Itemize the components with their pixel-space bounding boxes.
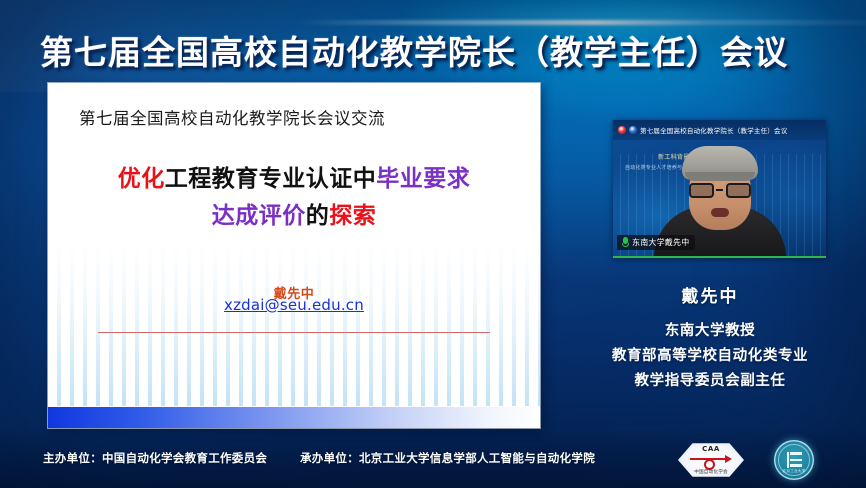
video-banner-text: 第七届全国高校自动化教学院长（教学主任）会议 [640,125,787,135]
glasses-right-lens [726,183,751,198]
slide-title-seg-exploration: 探索 [329,203,376,229]
seu-badge-icon [629,126,637,134]
slide-footer-bar [48,407,540,428]
microphone-icon [621,237,629,248]
slide-title-line-2: 达成评价的探索 [48,198,540,235]
speaker-glasses [689,182,751,198]
bjut-logo-subtext: 北京工业大学 [774,469,814,474]
speaker-info-panel: 戴先中 东南大学教授 教育部高等学校自动化类专业 教学指导委员会副主任 [560,282,860,394]
footer-logos: CAA 中国自动化学会 北京工业大学 [678,440,814,480]
slide-presenter-email[interactable]: xzdai@seu.edu.cn [48,296,540,314]
speaker-title-3: 教学指导委员会副主任 [560,369,860,394]
page-title: 第七届全国高校自动化教学院长（教学主任）会议 [40,26,788,74]
slide-main-title: 优化工程教育专业认证中毕业要求 达成评价的探索 [48,161,540,235]
slide-title-seg-attainment: 达成评价 [212,203,306,229]
slide-title-seg-graduation: 毕业要求 [376,166,470,192]
slide-title-seg-de: 的 [306,203,330,229]
footer-bar: 主办单位：中国自动化学会教育工作委员会 承办单位：北京工业大学信息学部人工智能与… [0,432,866,488]
slide-divider [98,332,490,333]
speaker-name: 戴先中 [560,282,860,307]
shared-slide[interactable]: 第七届全国高校自动化教学院长会议交流 优化工程教育专业认证中毕业要求 达成评价的… [48,83,540,428]
slide-stripe-decoration [48,246,540,406]
speaker-cap-brim [685,172,755,181]
speaker-mouth [711,208,729,217]
slide-title-seg-engineering: 工程教育专业认证中 [165,166,377,192]
slide-title-line-1: 优化工程教育专业认证中毕业要求 [48,161,540,198]
glasses-bridge [716,189,723,191]
bjut-logo: 北京工业大学 [774,440,814,480]
video-name-label: 东南大学戴先中 [617,235,695,250]
caa-logo-text: CAA [678,445,744,453]
caa-badge-icon [618,126,626,134]
caa-logo-subtext: 中国自动化学会 [678,469,744,475]
speaker-title-1: 东南大学教授 [560,319,860,344]
speaker-title-2: 教育部高等学校自动化类专业 [560,344,860,369]
slide-heading: 第七届全国高校自动化教学院长会议交流 [79,105,385,129]
bjut-logo-mark [787,452,802,468]
video-background-banner: 第七届全国高校自动化教学院长（教学主任）会议 [613,120,826,140]
footer-host: 主办单位：中国自动化学会教育工作委员会 [43,450,267,466]
caa-logo: CAA 中国自动化学会 [678,441,744,479]
footer-organizer: 承办单位：北京工业大学信息学部人工智能与自动化学院 [300,450,595,466]
video-tile-speaker[interactable]: 第七届全国高校自动化教学院长（教学主任）会议 新工科背景下 自动化类专业人才培养… [613,120,826,258]
background-light-streak [294,20,866,25]
presentation-screen: 第七届全国高校自动化教学院长（教学主任）会议 第七届全国高校自动化教学院长会议交… [0,0,866,488]
glasses-left-lens [689,183,714,198]
video-participant-name: 东南大学戴先中 [632,237,689,248]
caa-logo-mark [690,455,732,467]
slide-title-seg-optimize: 优化 [118,166,165,192]
